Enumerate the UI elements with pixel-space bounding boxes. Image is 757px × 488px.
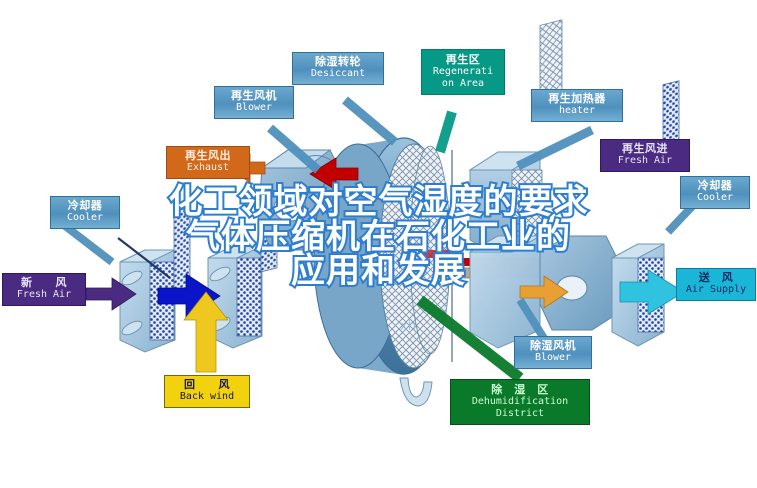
label-fresh-air: 新 风 Fresh Air [2, 273, 86, 306]
label-dehum-blower: 除湿风机 Blower [514, 336, 592, 369]
label-regen-blower-en: Blower [215, 102, 293, 113]
label-cooler-left: 冷却器 Cooler [50, 196, 120, 229]
label-regeneration-area-en1: Regenerati [422, 66, 504, 77]
label-regen-heater-cn: 再生加热器 [532, 93, 622, 105]
label-air-supply-en: Air Supply [677, 284, 755, 295]
label-exhaust: 再生风出 Exhaust [166, 146, 250, 179]
svg-text:xh: xh [400, 319, 416, 334]
label-dehum-blower-cn: 除湿风机 [515, 340, 591, 352]
label-desiccant-en: Desiccant [293, 68, 383, 79]
label-dehum-district-cn: 除 湿 区 [451, 384, 589, 396]
label-air-supply-cn: 送 风 [677, 272, 755, 284]
label-regen-heater: 再生加热器 heater [531, 89, 623, 122]
label-cooler-right: 冷却器 Cooler [680, 176, 750, 209]
label-dehum-district-en1: Dehumidification [451, 396, 589, 407]
label-regen-blower-cn: 再生风机 [215, 90, 293, 102]
label-regen-blower: 再生风机 Blower [214, 86, 294, 119]
label-dehum-district-en2: District [451, 408, 589, 419]
label-desiccant: 除湿转轮 Desiccant [292, 52, 384, 85]
label-regeneration-area-en2: on Area [422, 78, 504, 89]
label-cooler-right-en: Cooler [681, 192, 749, 203]
label-air-supply: 送 风 Air Supply [676, 268, 756, 301]
label-regen-fresh-air-en: Fresh Air [601, 155, 689, 166]
label-fresh-air-en: Fresh Air [3, 289, 85, 300]
label-dehum-blower-en: Blower [515, 352, 591, 363]
label-cooler-right-cn: 冷却器 [681, 180, 749, 192]
label-dehumidification-district: 除 湿 区 Dehumidification District [450, 379, 590, 425]
label-regeneration-area: 再生区 Regenerati on Area [421, 49, 505, 95]
label-back-wind-cn: 回 风 [165, 379, 249, 391]
label-cooler-left-cn: 冷却器 [51, 200, 119, 212]
label-desiccant-cn: 除湿转轮 [293, 56, 383, 68]
schematic-canvas: xh [0, 0, 757, 488]
coil-left [120, 208, 190, 352]
label-fresh-air-cn: 新 风 [3, 277, 85, 289]
label-exhaust-cn: 再生风出 [167, 150, 249, 162]
label-cooler-left-en: Cooler [51, 212, 119, 223]
label-exhaust-en: Exhaust [167, 162, 249, 173]
label-regen-heater-en: heater [532, 105, 622, 116]
label-regen-fresh-air: 再生风进 Fresh Air [600, 139, 690, 172]
label-back-wind-en: Back wind [165, 391, 249, 402]
label-regen-fresh-air-cn: 再生风进 [601, 143, 689, 155]
label-regeneration-area-cn: 再生区 [422, 54, 504, 66]
label-back-wind: 回 风 Back wind [164, 375, 250, 408]
